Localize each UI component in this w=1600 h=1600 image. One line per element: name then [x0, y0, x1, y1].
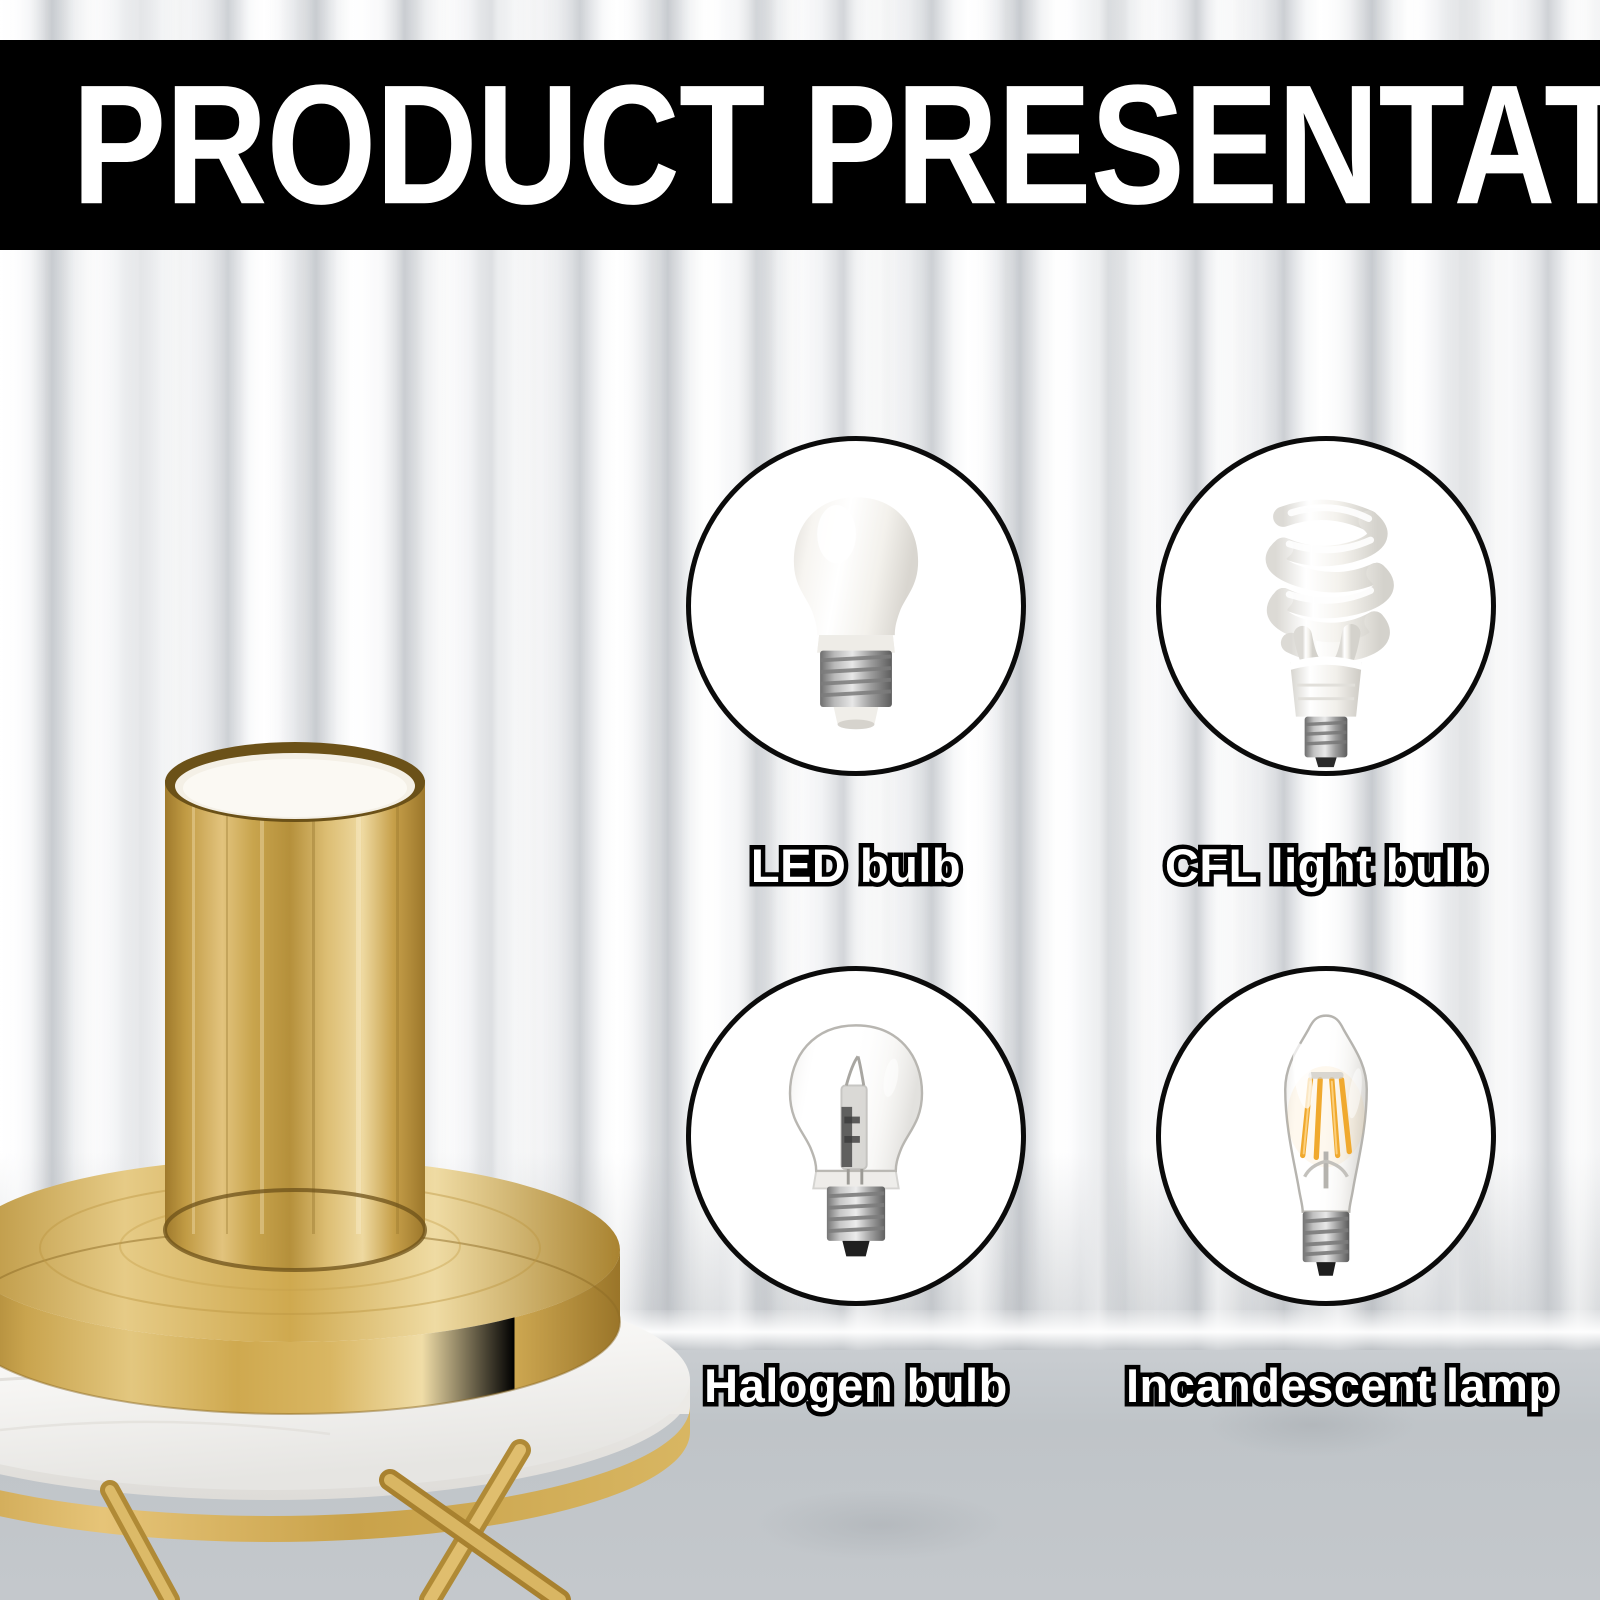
bulb-option-led-circle[interactable] [686, 436, 1026, 776]
header-banner: PRODUCT PRESENTATION [0, 40, 1600, 250]
page-title: PRODUCT PRESENTATION [72, 60, 1600, 230]
cfl-bulb-icon [1161, 441, 1491, 771]
lamp-illustration [0, 690, 720, 1600]
cfl-label-text: CFL light bulb [1165, 839, 1487, 892]
bulb-option-incandescent-label: Incandescent lamp [1126, 1358, 1526, 1413]
incandescent-bulb-icon [1161, 971, 1491, 1301]
bulb-option-halogen-circle[interactable] [686, 966, 1026, 1306]
led-label-text: LED bulb [751, 839, 961, 892]
bulb-option-halogen-label: Halogen bulb [686, 1358, 1026, 1413]
led-bulb-icon [691, 441, 1021, 771]
halogen-bulb-icon [691, 971, 1021, 1301]
bulb-option-led-label: LED bulb [686, 838, 1026, 893]
bulb-option-incandescent-circle[interactable] [1156, 966, 1496, 1306]
bulb-option-cfl-label: CFL light bulb [1156, 838, 1496, 893]
product-photo-lamp [0, 690, 720, 1600]
halogen-label-text: Halogen bulb [704, 1359, 1008, 1412]
bulb-option-cfl-circle[interactable] [1156, 436, 1496, 776]
incandescent-label-text: Incandescent lamp [1126, 1359, 1558, 1412]
product-presentation-image: LED bulb [0, 0, 1600, 1600]
